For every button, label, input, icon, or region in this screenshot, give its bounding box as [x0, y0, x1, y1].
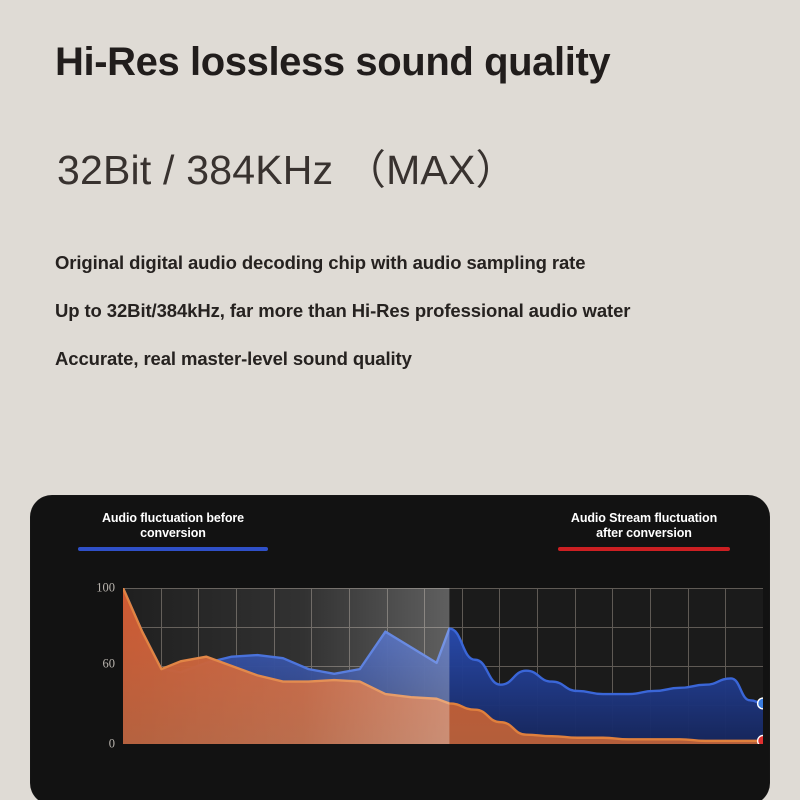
- plot-area: [123, 588, 763, 744]
- legend-before-label-line1: Audio fluctuation before: [78, 511, 268, 526]
- body-copy-list: Original digital audio decoding chip wit…: [55, 252, 755, 396]
- legend-after-color-bar: [558, 547, 730, 551]
- legend-before-color-bar: [78, 547, 268, 551]
- legend-after-label-line1: Audio Stream fluctuation: [558, 511, 730, 526]
- plot-wrapper: 100 60 0: [83, 588, 770, 758]
- body-copy-line: Original digital audio decoding chip wit…: [55, 252, 755, 274]
- body-copy-line: Accurate, real master-level sound qualit…: [55, 348, 755, 370]
- y-tick-label: 100: [96, 581, 115, 596]
- legend-before-conversion: Audio fluctuation before conversion: [78, 511, 268, 551]
- body-copy-line: Up to 32Bit/384kHz, far more than Hi-Res…: [55, 300, 755, 322]
- y-tick-label: 60: [103, 657, 116, 672]
- y-tick-label: 0: [109, 737, 115, 752]
- legend-after-conversion: Audio Stream fluctuation after conversio…: [558, 511, 730, 551]
- page-title: Hi-Res lossless sound quality: [55, 40, 610, 85]
- fluctuation-area-chart: [123, 588, 763, 744]
- legend-before-label-line2: conversion: [78, 526, 268, 541]
- spec-subtitle: 32Bit / 384KHz （MAX）: [57, 136, 517, 196]
- y-axis: 100 60 0: [83, 588, 115, 744]
- legend-after-label-line2: after conversion: [558, 526, 730, 541]
- audio-fluctuation-chart-panel: Audio fluctuation before conversion Audi…: [30, 495, 770, 800]
